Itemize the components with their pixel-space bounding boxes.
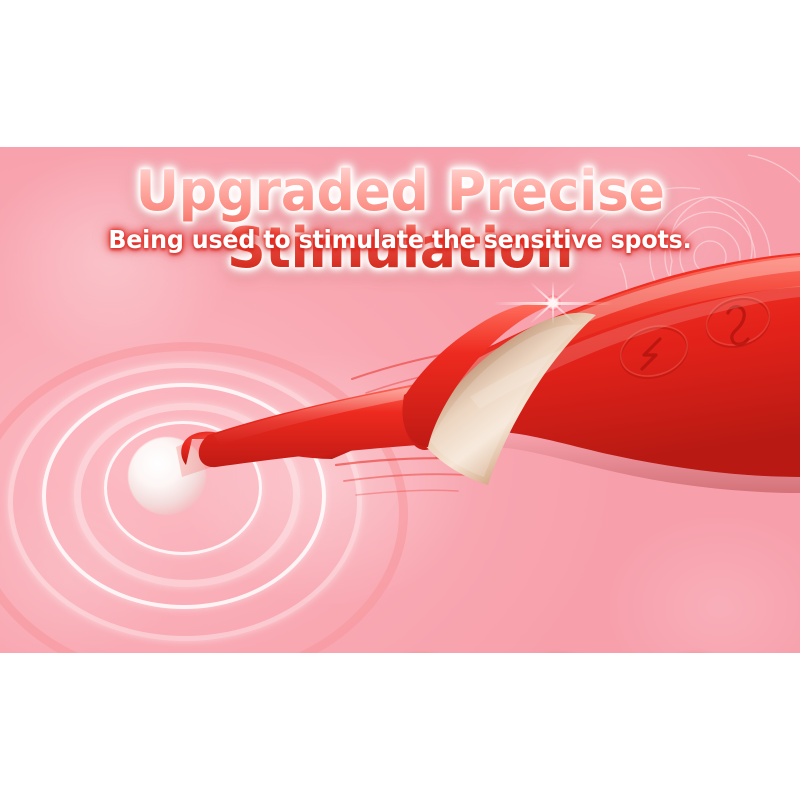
contact-highlight <box>128 437 206 515</box>
headline-container: Upgraded Precise Stimulation <box>0 163 800 277</box>
vibration-ripple <box>42 383 326 609</box>
background-swirl <box>0 147 280 407</box>
page-title: Upgraded Precise Stimulation <box>16 163 784 277</box>
promo-banner: Upgraded Precise Stimulation Being used … <box>0 147 800 653</box>
page-subtitle: Being used to stimulate the sensitive sp… <box>108 225 691 254</box>
subtitle-container: Being used to stimulate the sensitive sp… <box>0 225 800 254</box>
product-device <box>0 147 800 653</box>
sparkle-icon <box>552 302 554 304</box>
vibration-ripple <box>104 421 262 555</box>
gold-accent-band <box>420 313 596 485</box>
product-marketing-image: Upgraded Precise Stimulation Being used … <box>0 0 800 800</box>
rose-watermark <box>560 147 800 437</box>
probe-tip <box>181 431 360 465</box>
motion-lines-lower <box>336 458 472 495</box>
device-front-lip <box>402 303 552 447</box>
background-swirl <box>0 447 220 653</box>
vibration-ripple <box>0 342 408 653</box>
background-swirl <box>430 147 800 367</box>
button-embossing <box>614 290 775 386</box>
probe-shaft <box>199 383 452 467</box>
motion-lines-upper <box>338 345 500 405</box>
vibration-ripple <box>8 363 362 641</box>
background-swirl <box>560 477 800 653</box>
device-body <box>403 253 800 477</box>
vibration-ripple <box>74 403 300 587</box>
background-swirl <box>120 297 540 653</box>
